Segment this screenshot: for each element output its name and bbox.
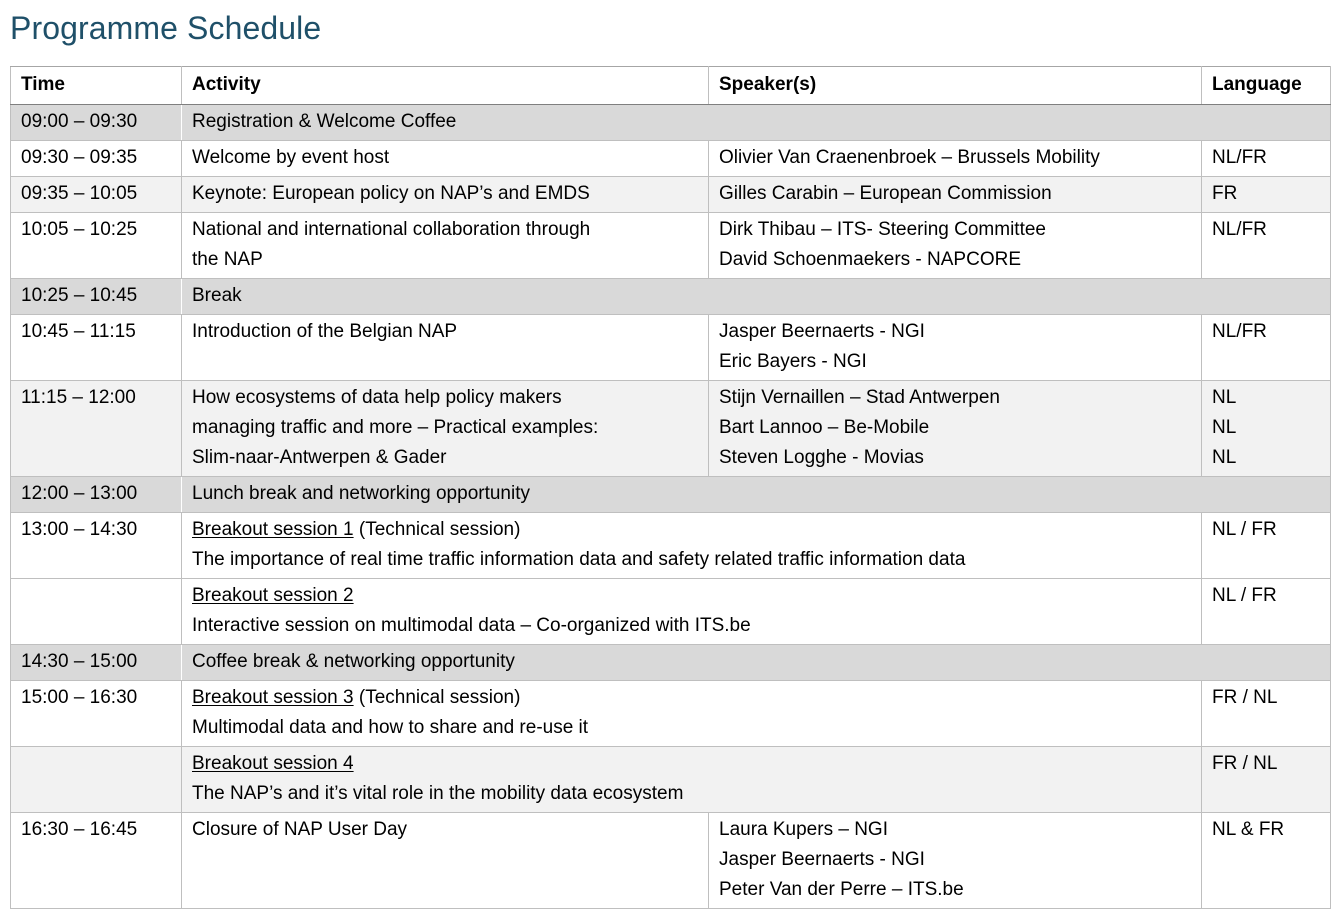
schedule-table-container: Time Activity Speaker(s) Language 09:00 … — [10, 66, 1330, 909]
text-line: NL — [1212, 383, 1330, 413]
cell-time: 10:25 – 10:45 — [11, 279, 182, 315]
text-line: Steven Logghe - Movias — [719, 443, 1201, 473]
programme-schedule-table: Time Activity Speaker(s) Language 09:00 … — [10, 66, 1331, 909]
table-row: 13:00 – 14:30Breakout session 1 (Technic… — [11, 513, 1331, 579]
cell-language: FR / NL — [1202, 747, 1331, 813]
table-row: 12:00 – 13:00Lunch break and networking … — [11, 477, 1331, 513]
table-row: 14:30 – 15:00Coffee break & networking o… — [11, 645, 1331, 681]
cell-language: FR — [1202, 177, 1331, 213]
table-row: Breakout session 2Interactive session on… — [11, 579, 1331, 645]
cell-activity: Closure of NAP User Day — [182, 813, 709, 909]
cell-activity: Introduction of the Belgian NAP — [182, 315, 709, 381]
text-line: National and international collaboration… — [192, 215, 708, 245]
text-line: David Schoenmaekers - NAPCORE — [719, 245, 1201, 275]
session-subtitle: The importance of real time traffic info… — [192, 545, 1201, 575]
table-row: Breakout session 4The NAP’s and it’s vit… — [11, 747, 1331, 813]
cell-language: FR / NL — [1202, 681, 1331, 747]
text-line: Bart Lannoo – Be-Mobile — [719, 413, 1201, 443]
cell-time: 09:00 – 09:30 — [11, 105, 182, 141]
cell-activity: Welcome by event host — [182, 141, 709, 177]
text-line: Jasper Beernaerts - NGI — [719, 317, 1201, 347]
cell-time: 10:05 – 10:25 — [11, 213, 182, 279]
column-header-activity: Activity — [182, 67, 709, 105]
cell-activity: Coffee break & networking opportunity — [182, 645, 1331, 681]
cell-time: 14:30 – 15:00 — [11, 645, 182, 681]
cell-language: NL / FR — [1202, 579, 1331, 645]
table-row: 09:00 – 09:30Registration & Welcome Coff… — [11, 105, 1331, 141]
cell-time: 11:15 – 12:00 — [11, 381, 182, 477]
cell-language: NLNLNL — [1202, 381, 1331, 477]
text-line: Dirk Thibau – ITS- Steering Committee — [719, 215, 1201, 245]
cell-speakers: Dirk Thibau – ITS- Steering CommitteeDav… — [709, 213, 1202, 279]
cell-activity: National and international collaboration… — [182, 213, 709, 279]
cell-activity: Breakout session 4The NAP’s and it’s vit… — [182, 747, 1202, 813]
cell-time: 13:00 – 14:30 — [11, 513, 182, 579]
session-title-suffix: (Technical session) — [354, 687, 521, 708]
text-line: How ecosystems of data help policy maker… — [192, 383, 708, 413]
cell-time: 12:00 – 13:00 — [11, 477, 182, 513]
cell-language: NL/FR — [1202, 315, 1331, 381]
text-line: the NAP — [192, 245, 708, 275]
table-row: 10:25 – 10:45Break — [11, 279, 1331, 315]
cell-language: NL / FR — [1202, 513, 1331, 579]
cell-activity: Keynote: European policy on NAP’s and EM… — [182, 177, 709, 213]
text-line: Slim-naar-Antwerpen & Gader — [192, 443, 708, 473]
session-title-suffix: (Technical session) — [354, 519, 521, 540]
column-header-language: Language — [1202, 67, 1331, 105]
text-line: Eric Bayers - NGI — [719, 347, 1201, 377]
text-line: managing traffic and more – Practical ex… — [192, 413, 708, 443]
cell-speakers: Gilles Carabin – European Commission — [709, 177, 1202, 213]
programme-schedule-page: Programme Schedule Time Activity Speaker… — [0, 0, 1340, 826]
cell-time: 10:45 – 11:15 — [11, 315, 182, 381]
cell-time — [11, 747, 182, 813]
cell-time: 09:35 – 10:05 — [11, 177, 182, 213]
session-subtitle: Interactive session on multimodal data –… — [192, 611, 1201, 641]
text-line: Stijn Vernaillen – Stad Antwerpen — [719, 383, 1201, 413]
cell-speakers: Laura Kupers – NGIJasper Beernaerts - NG… — [709, 813, 1202, 909]
cell-time — [11, 579, 182, 645]
text-line: Peter Van der Perre – ITS.be — [719, 875, 1201, 905]
table-row: 16:30 – 16:45Closure of NAP User DayLaur… — [11, 813, 1331, 909]
page-title: Programme Schedule — [10, 6, 321, 50]
session-title-line: Breakout session 4 — [192, 749, 1201, 779]
session-title-line: Breakout session 3 (Technical session) — [192, 683, 1201, 713]
cell-time: 15:00 – 16:30 — [11, 681, 182, 747]
cell-language: NL/FR — [1202, 141, 1331, 177]
session-title-line: Breakout session 1 (Technical session) — [192, 515, 1201, 545]
table-row: 10:05 – 10:25National and international … — [11, 213, 1331, 279]
text-line: Olivier Van Craenenbroek – Brussels Mobi… — [719, 143, 1201, 173]
session-title-underlined: Breakout session 3 — [192, 687, 354, 708]
session-title-line: Breakout session 2 — [192, 581, 1201, 611]
table-header: Time Activity Speaker(s) Language — [11, 67, 1331, 105]
session-subtitle: The NAP’s and it’s vital role in the mob… — [192, 779, 1201, 809]
table-row: 09:35 – 10:05Keynote: European policy on… — [11, 177, 1331, 213]
cell-activity: Breakout session 1 (Technical session)Th… — [182, 513, 1202, 579]
cell-time: 16:30 – 16:45 — [11, 813, 182, 909]
header-row: Time Activity Speaker(s) Language — [11, 67, 1331, 105]
cell-activity: How ecosystems of data help policy maker… — [182, 381, 709, 477]
column-header-time: Time — [11, 67, 182, 105]
cell-activity: Breakout session 2Interactive session on… — [182, 579, 1202, 645]
session-title-underlined: Breakout session 1 — [192, 519, 354, 540]
table-row: 11:15 – 12:00How ecosystems of data help… — [11, 381, 1331, 477]
session-subtitle: Multimodal data and how to share and re-… — [192, 713, 1201, 743]
table-row: 09:30 – 09:35Welcome by event hostOlivie… — [11, 141, 1331, 177]
cell-activity: Break — [182, 279, 1331, 315]
text-line: NL — [1212, 413, 1330, 443]
cell-time: 09:30 – 09:35 — [11, 141, 182, 177]
cell-activity: Breakout session 3 (Technical session)Mu… — [182, 681, 1202, 747]
session-title-underlined: Breakout session 2 — [192, 585, 354, 606]
cell-speakers: Olivier Van Craenenbroek – Brussels Mobi… — [709, 141, 1202, 177]
text-line: Laura Kupers – NGI — [719, 815, 1201, 845]
cell-activity: Lunch break and networking opportunity — [182, 477, 1331, 513]
table-row: 10:45 – 11:15Introduction of the Belgian… — [11, 315, 1331, 381]
cell-speakers: Jasper Beernaerts - NGIEric Bayers - NGI — [709, 315, 1202, 381]
cell-language: NL & FR — [1202, 813, 1331, 909]
text-line: Gilles Carabin – European Commission — [719, 179, 1201, 209]
cell-language: NL/FR — [1202, 213, 1331, 279]
cell-speakers: Stijn Vernaillen – Stad AntwerpenBart La… — [709, 381, 1202, 477]
text-line: NL — [1212, 443, 1330, 473]
text-line: Jasper Beernaerts - NGI — [719, 845, 1201, 875]
column-header-speakers: Speaker(s) — [709, 67, 1202, 105]
cell-activity: Registration & Welcome Coffee — [182, 105, 1331, 141]
table-row: 15:00 – 16:30Breakout session 3 (Technic… — [11, 681, 1331, 747]
table-body: 09:00 – 09:30Registration & Welcome Coff… — [11, 105, 1331, 909]
session-title-underlined: Breakout session 4 — [192, 753, 354, 774]
